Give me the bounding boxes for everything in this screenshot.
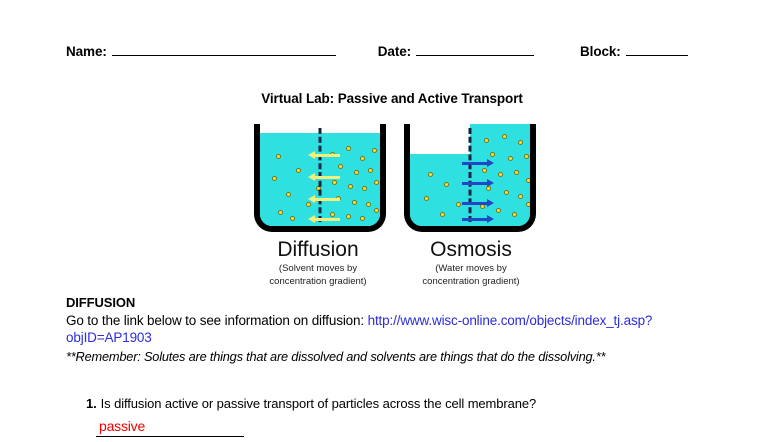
question-1-text: Is diffusion active or passive transport… [101, 396, 537, 411]
particle [360, 156, 365, 161]
particle [346, 214, 351, 219]
date-blank[interactable] [416, 43, 534, 56]
osmosis-arrow [462, 182, 488, 185]
diffusion-membrane-line [319, 128, 322, 222]
osmosis-arrow [462, 218, 488, 221]
block-blank[interactable] [626, 43, 688, 56]
particle [332, 180, 337, 185]
osmosis-caption-title: Osmosis [396, 237, 546, 262]
particle [338, 164, 343, 169]
diffusion-caption-sub-line2: concentration gradient) [243, 276, 393, 288]
particle [518, 194, 523, 199]
particle [366, 202, 371, 207]
osmosis-caption: Osmosis (Water moves by concentration gr… [396, 237, 546, 287]
particle [526, 202, 531, 207]
particle [276, 154, 281, 159]
particle [278, 210, 283, 215]
particle [354, 170, 359, 175]
particle [330, 212, 335, 217]
particle [374, 208, 379, 213]
diffusion-arrow [314, 198, 340, 201]
date-label: Date: [378, 44, 411, 59]
particle [512, 212, 517, 217]
osmosis-beaker [404, 124, 536, 232]
particle [272, 176, 277, 181]
diffusion-arrow [314, 154, 340, 157]
student-info-row: Name: Date: Block: [66, 43, 736, 59]
remember-note: **Remember: Solutes are things that are … [66, 349, 776, 364]
particle [518, 140, 523, 145]
diffusion-caption-sub-line1: (Solvent moves by [243, 263, 393, 275]
particle [524, 154, 529, 159]
osmosis-caption-sub-line1: (Water moves by [396, 263, 546, 275]
particle [498, 172, 503, 177]
particle [482, 168, 487, 173]
instruction-text: Go to the link below to see information … [66, 313, 368, 328]
particle [428, 172, 433, 177]
question-1-number: 1. [86, 396, 97, 411]
question-1: 1.Is diffusion active or passive transpo… [86, 396, 726, 411]
particle [368, 168, 373, 173]
question-1-answer-row[interactable]: passive [96, 419, 296, 442]
name-field[interactable]: Name: [66, 43, 336, 59]
name-blank[interactable] [112, 43, 336, 56]
name-label: Name: [66, 44, 107, 59]
section-heading-diffusion: DIFFUSION [66, 295, 135, 310]
particle [440, 212, 445, 217]
particle [424, 196, 429, 201]
particle [348, 184, 353, 189]
block-label: Block: [580, 44, 621, 59]
worksheet-page: Name: Date: Block: Virtual Lab: Passive … [0, 0, 784, 441]
particle [456, 202, 461, 207]
diffusion-beaker [254, 124, 386, 232]
particle [286, 192, 291, 197]
date-field[interactable]: Date: [378, 43, 534, 59]
particle [508, 156, 513, 161]
particle [374, 180, 379, 185]
particle [352, 200, 357, 205]
osmosis-membrane-line [469, 128, 472, 222]
question-1-answer-text: passive [99, 418, 145, 434]
particle [360, 216, 365, 221]
block-field[interactable]: Block: [580, 43, 688, 59]
particle [490, 152, 495, 157]
particle [346, 146, 351, 151]
particle [504, 190, 509, 195]
page-title: Virtual Lab: Passive and Active Transpor… [0, 91, 784, 106]
osmosis-arrow [462, 202, 488, 205]
beaker-pair [246, 124, 546, 234]
transport-diagram: Diffusion (Solvent moves by concentratio… [246, 124, 546, 294]
instruction-paragraph: Go to the link below to see information … [66, 313, 666, 346]
particle [372, 148, 377, 153]
osmosis-vessel [404, 124, 536, 232]
diffusion-caption-title: Diffusion [243, 237, 393, 262]
diffusion-arrow [314, 176, 340, 179]
particle [296, 168, 301, 173]
particle [484, 138, 489, 143]
particle [444, 182, 449, 187]
osmosis-caption-sub-line2: concentration gradient) [396, 276, 546, 288]
particle [502, 134, 507, 139]
particle [526, 178, 531, 183]
particle [496, 208, 501, 213]
diffusion-arrow [314, 218, 340, 221]
particle [362, 186, 367, 191]
diffusion-caption: Diffusion (Solvent moves by concentratio… [243, 237, 393, 287]
question-1-answer-blank[interactable]: passive [96, 419, 244, 437]
particle [290, 216, 295, 221]
particle [514, 170, 519, 175]
diffusion-vessel [254, 124, 386, 232]
osmosis-arrow [462, 162, 488, 165]
